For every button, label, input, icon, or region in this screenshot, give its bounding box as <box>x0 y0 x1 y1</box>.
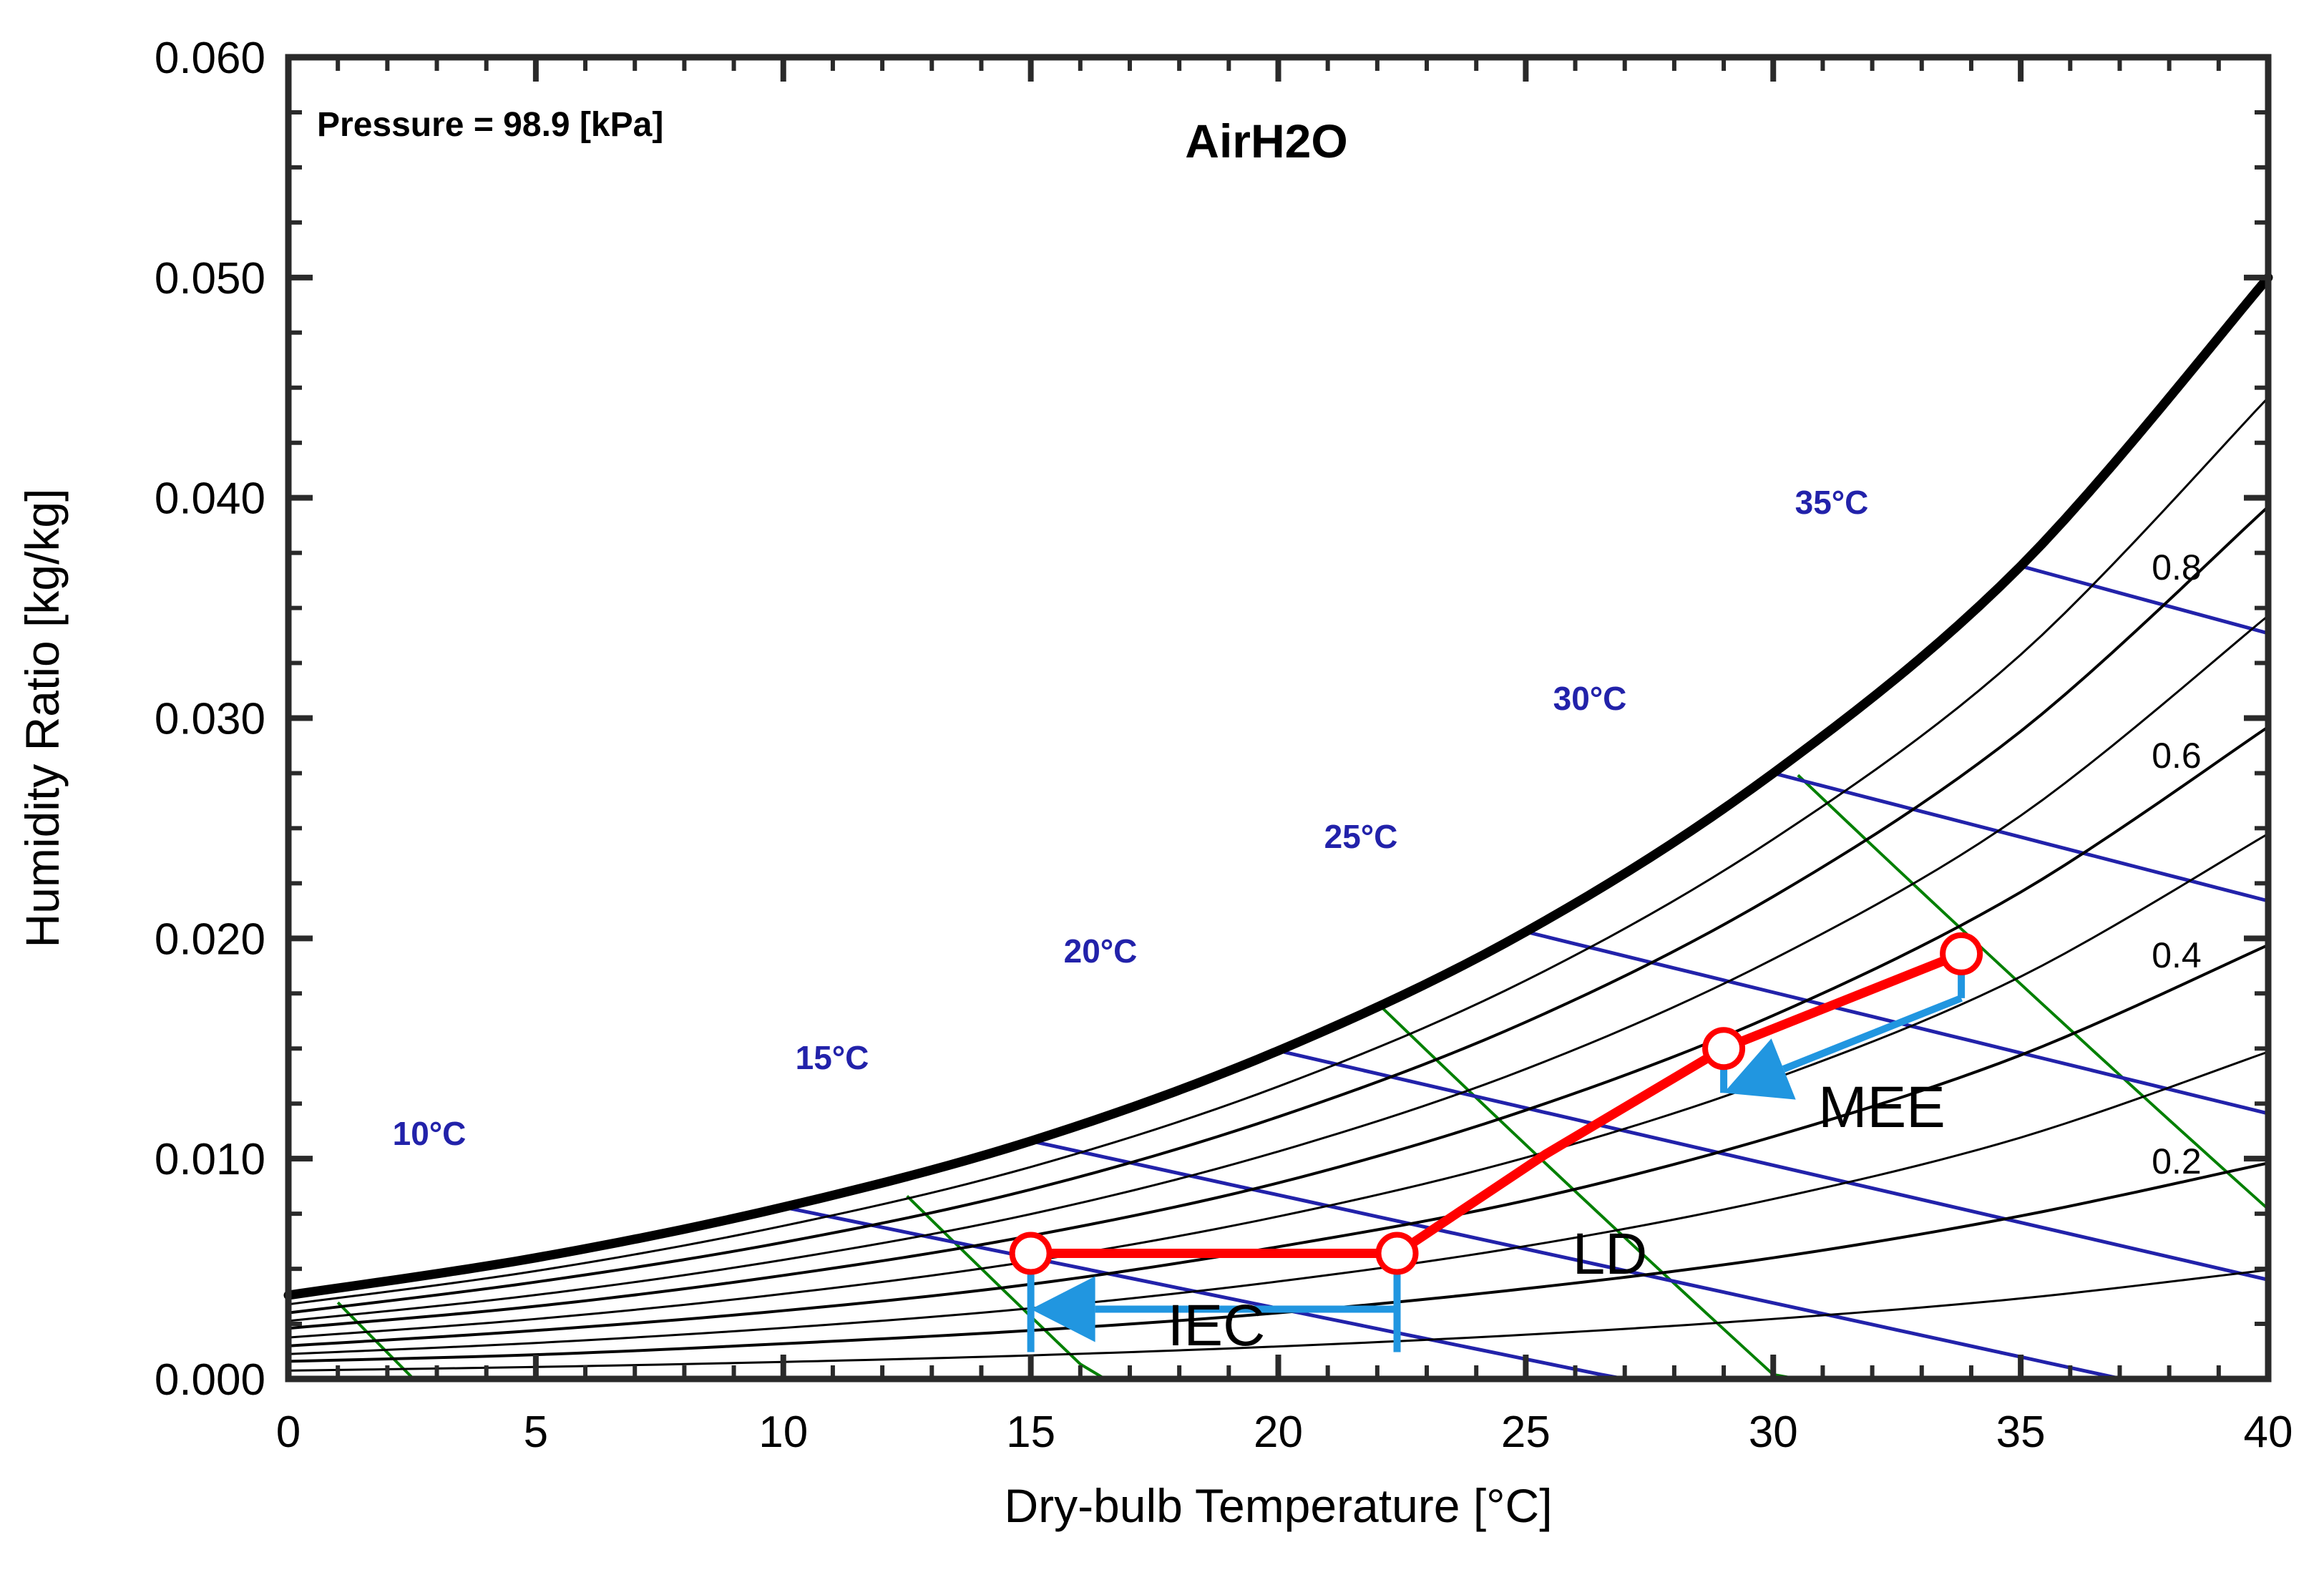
wet-bulb-label-15: 15°C <box>796 1039 869 1076</box>
x-tick-label-35: 35 <box>1996 1408 2046 1457</box>
rh-label-0.2: 0.2 <box>2152 1141 2202 1181</box>
process-label-IEC: IEC <box>1168 1293 1266 1358</box>
chart-canvas: 10°C15°C20°C25°C30°C35°C0.80.60.40.2IECL… <box>0 0 2324 1570</box>
y-tick-label-0.000: 0.000 <box>155 1355 265 1405</box>
x-axis-title: Dry-bulb Temperature [°C] <box>1004 1479 1552 1532</box>
x-tick-label-40: 40 <box>2244 1408 2293 1457</box>
y-tick-label-0.030: 0.030 <box>155 695 265 744</box>
wet-bulb-label-10: 10°C <box>393 1115 467 1152</box>
x-tick-label-5: 5 <box>524 1408 548 1457</box>
x-tick-label-20: 20 <box>1254 1408 1303 1457</box>
psychrometric-chart: 10°C15°C20°C25°C30°C35°C0.80.60.40.2IECL… <box>0 0 2324 1570</box>
chart-title: AirH2O <box>1185 114 1347 167</box>
wet-bulb-label-20: 20°C <box>1064 932 1138 970</box>
y-tick-label-0.060: 0.060 <box>155 34 265 83</box>
process-label-MEE: MEE <box>1818 1075 1945 1140</box>
process-label-LD: LD <box>1573 1222 1648 1287</box>
y-tick-label-0.040: 0.040 <box>155 474 265 524</box>
rh-label-0.8: 0.8 <box>2152 547 2202 587</box>
x-tick-label-0: 0 <box>276 1408 301 1457</box>
pressure-annotation: Pressure = 98.9 [kPa] <box>317 106 663 144</box>
rh-label-0.4: 0.4 <box>2152 935 2202 975</box>
x-tick-label-15: 15 <box>1006 1408 1055 1457</box>
state-point-P2[interactable] <box>1379 1235 1416 1272</box>
wet-bulb-label-35: 35°C <box>1795 484 1869 521</box>
x-tick-label-10: 10 <box>758 1408 808 1457</box>
wet-bulb-label-25: 25°C <box>1324 818 1398 855</box>
wet-bulb-label-30: 30°C <box>1553 680 1627 717</box>
state-point-P3[interactable] <box>1705 1030 1742 1067</box>
rh-label-0.6: 0.6 <box>2152 736 2202 776</box>
y-axis-title: Humidity Ratio [kg/kg] <box>16 489 69 948</box>
y-tick-label-0.010: 0.010 <box>155 1135 265 1184</box>
x-tick-label-25: 25 <box>1501 1408 1551 1457</box>
x-tick-label-30: 30 <box>1749 1408 1798 1457</box>
plot-background <box>288 57 2268 1379</box>
y-tick-label-0.020: 0.020 <box>155 915 265 964</box>
y-tick-label-0.050: 0.050 <box>155 254 265 303</box>
state-point-P1[interactable] <box>1012 1235 1050 1272</box>
state-point-P4[interactable] <box>1943 935 1980 972</box>
